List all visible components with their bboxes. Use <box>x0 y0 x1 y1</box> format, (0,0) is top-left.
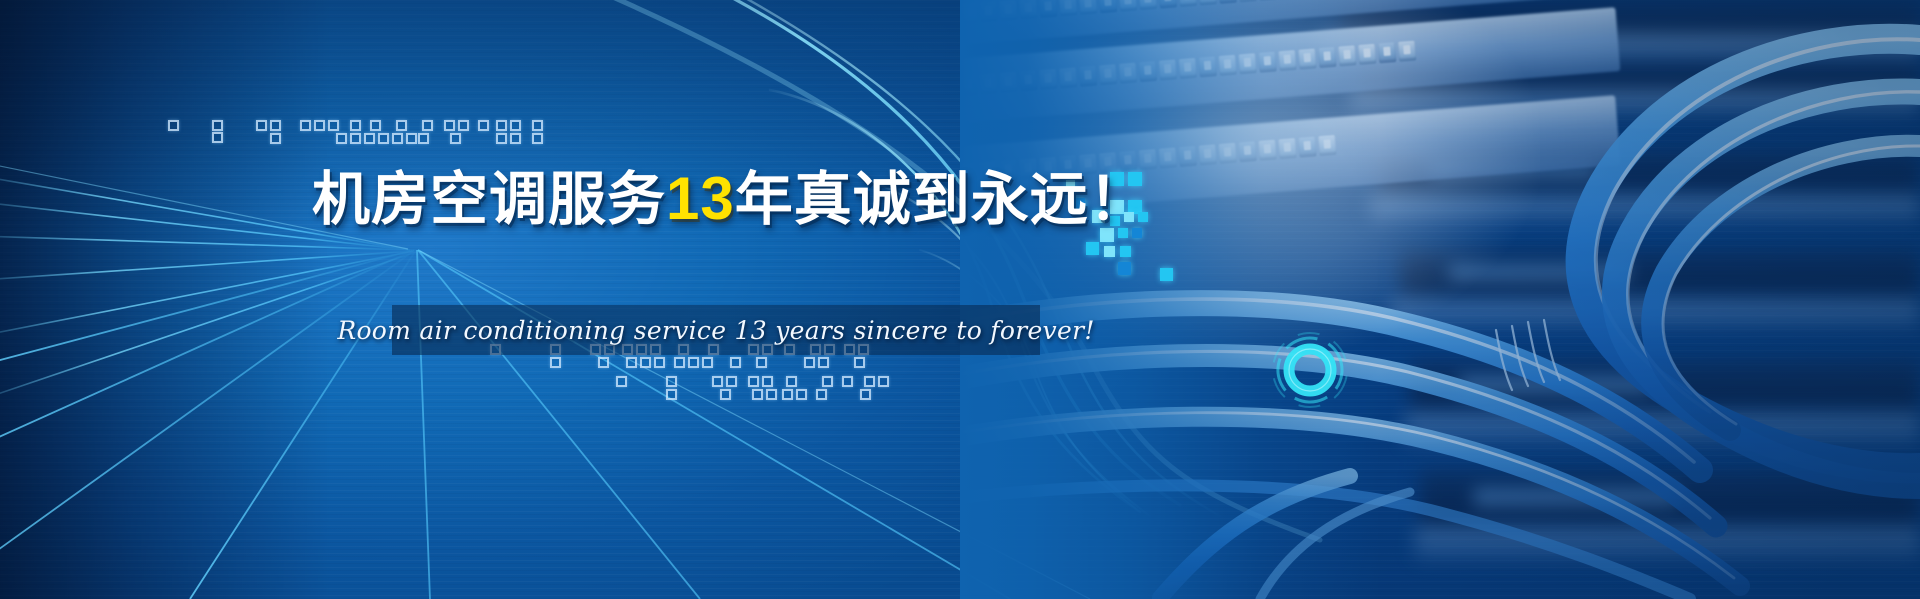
subtitle-text: Room air conditioning service 13 years s… <box>337 316 1094 345</box>
headline-prefix: 机房空调服务 <box>312 165 666 233</box>
binary-square-field-upper <box>160 100 560 140</box>
hud-ring-icon <box>1262 322 1358 418</box>
hero-banner: 机房空调服务13年真诚到永远！ Room air conditioning se… <box>0 0 1920 599</box>
headline-years-number: 13 <box>666 165 735 232</box>
headline-suffix: 年真诚到永远！ <box>735 165 1148 233</box>
page-title: 机房空调服务13年真诚到永远！ <box>312 164 1148 233</box>
subtitle-band: Room air conditioning service 13 years s… <box>392 305 1040 355</box>
